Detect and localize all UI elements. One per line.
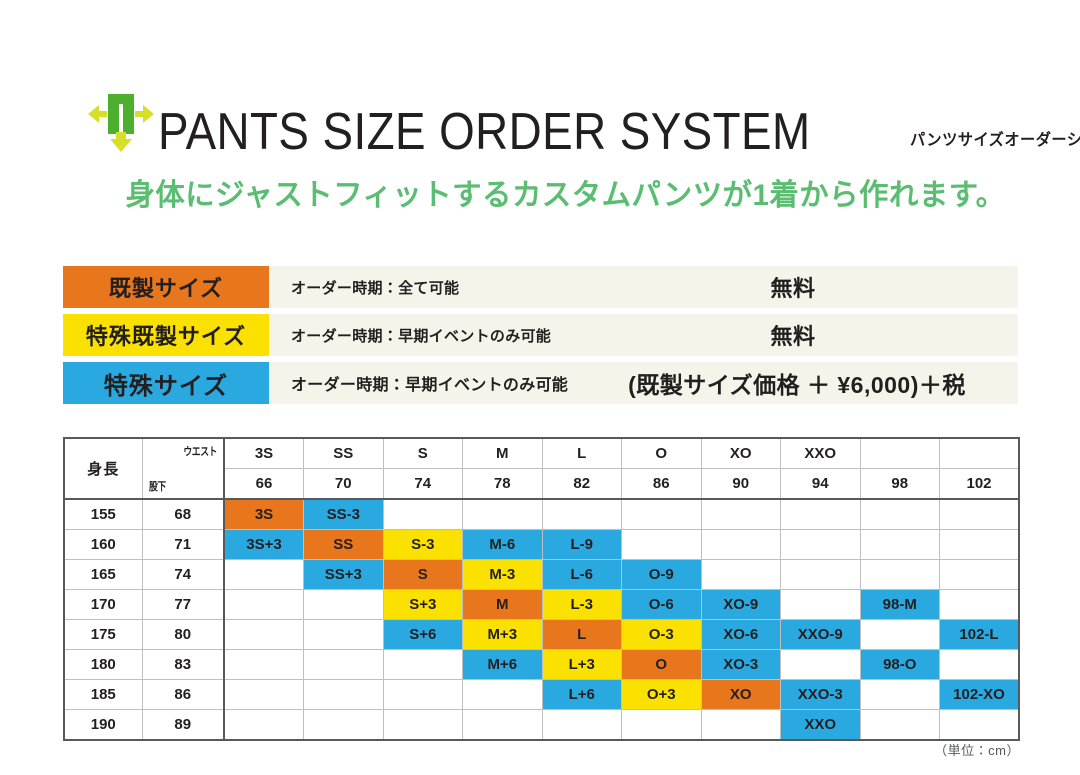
size-cell-98-M: 98-M xyxy=(860,590,940,620)
size-cell-102-L: 102-L xyxy=(940,620,1020,650)
row-height-155: 155 xyxy=(64,499,142,530)
price-value-special-ready-made: 無料 xyxy=(568,319,1018,351)
size-cell-empty xyxy=(542,499,622,530)
table-row: 16574SS+3SM-3L-6O-9 xyxy=(64,560,1019,590)
size-label-6: XO xyxy=(701,438,781,469)
size-cell-empty xyxy=(304,650,384,680)
size-matrix-table: 身長 ウエスト 股下 3S SS S M L O XO XXO 66 70 xyxy=(63,437,1018,741)
size-cell-XXO-9: XXO-9 xyxy=(781,620,861,650)
size-cell-empty xyxy=(383,680,463,710)
size-cell-empty xyxy=(940,590,1020,620)
size-cell-3S+3: 3S+3 xyxy=(224,530,304,560)
page-header: PANTS SIZE ORDER SYSTEM パンツサイズオーダーシステム 身… xyxy=(0,92,1080,214)
row-inseam-77: 77 xyxy=(142,590,224,620)
size-cell-O-9: O-9 xyxy=(622,560,702,590)
size-cell-O+3: O+3 xyxy=(622,680,702,710)
size-cell-empty xyxy=(463,499,543,530)
table-row: 18586L+6O+3XOXXO-3102-XO xyxy=(64,680,1019,710)
waist-value-8: 98 xyxy=(860,469,940,500)
row-inseam-89: 89 xyxy=(142,710,224,741)
size-cell-S+6: S+6 xyxy=(383,620,463,650)
size-table: 身長 ウエスト 股下 3S SS S M L O XO XXO 66 70 xyxy=(63,437,1020,741)
size-cell-empty xyxy=(701,560,781,590)
size-label-1: SS xyxy=(304,438,384,469)
size-cell-empty xyxy=(622,710,702,741)
size-cell-empty xyxy=(860,560,940,590)
size-label-7: XXO xyxy=(781,438,861,469)
pants-resize-icon xyxy=(88,92,154,154)
size-cell-empty xyxy=(304,620,384,650)
waist-value-7: 94 xyxy=(781,469,861,500)
size-cell-empty xyxy=(622,499,702,530)
row-height-180: 180 xyxy=(64,650,142,680)
size-cell-empty xyxy=(304,590,384,620)
size-cell-M-6: M-6 xyxy=(463,530,543,560)
size-cell-L+3: L+3 xyxy=(542,650,622,680)
header-diagonal-cell: ウエスト 股下 xyxy=(142,438,224,499)
size-cell-O-6: O-6 xyxy=(622,590,702,620)
size-cell-empty xyxy=(304,680,384,710)
size-cell-empty xyxy=(463,710,543,741)
size-cell-empty xyxy=(940,710,1020,741)
row-height-190: 190 xyxy=(64,710,142,741)
size-cell-L: L xyxy=(542,620,622,650)
price-period-special: オーダー時期：早期イベントのみ可能 xyxy=(291,371,568,395)
size-cell-XO-9: XO-9 xyxy=(701,590,781,620)
row-height-165: 165 xyxy=(64,560,142,590)
header-waist-label: ウエスト xyxy=(183,443,217,459)
page-title: PANTS SIZE ORDER SYSTEM xyxy=(158,106,811,158)
size-cell-L+6: L+6 xyxy=(542,680,622,710)
row-height-170: 170 xyxy=(64,590,142,620)
table-header-size-labels: 身長 ウエスト 股下 3S SS S M L O XO XXO xyxy=(64,438,1019,469)
row-inseam-86: 86 xyxy=(142,680,224,710)
price-legend: 既製サイズ オーダー時期：全て可能 無料 特殊既製サイズ オーダー時期：早期イベ… xyxy=(63,266,1018,404)
size-cell-empty xyxy=(383,499,463,530)
size-cell-empty xyxy=(304,710,384,741)
size-cell-M+6: M+6 xyxy=(463,650,543,680)
size-cell-empty xyxy=(224,620,304,650)
row-inseam-71: 71 xyxy=(142,530,224,560)
price-tag-ready-made: 既製サイズ xyxy=(63,266,269,308)
price-value-ready-made: 無料 xyxy=(568,271,1018,303)
size-cell-empty xyxy=(781,560,861,590)
size-cell-empty xyxy=(781,650,861,680)
size-label-5: O xyxy=(622,438,702,469)
row-inseam-80: 80 xyxy=(142,620,224,650)
price-row-special: 特殊サイズ オーダー時期：早期イベントのみ可能 (既製サイズ価格 ＋ ¥6,00… xyxy=(63,362,1018,404)
price-value-special: (既製サイズ価格 ＋ ¥6,000)＋税 xyxy=(572,366,1022,400)
size-cell-empty xyxy=(383,710,463,741)
size-cell-XO-6: XO-6 xyxy=(701,620,781,650)
waist-value-9: 102 xyxy=(940,469,1020,500)
price-period-ready-made: オーダー時期：全て可能 xyxy=(291,277,459,298)
waist-value-3: 78 xyxy=(463,469,543,500)
size-cell-L-3: L-3 xyxy=(542,590,622,620)
size-cell-empty xyxy=(701,710,781,741)
size-cell-empty xyxy=(940,560,1020,590)
size-cell-empty xyxy=(860,499,940,530)
size-cell-empty xyxy=(940,499,1020,530)
size-cell-empty xyxy=(701,499,781,530)
size-cell-empty xyxy=(383,650,463,680)
size-cell-empty xyxy=(224,710,304,741)
price-row-special-ready-made: 特殊既製サイズ オーダー時期：早期イベントのみ可能 無料 xyxy=(63,314,1018,356)
size-cell-empty xyxy=(781,590,861,620)
table-row: 18083M+6L+3OXO-398-O xyxy=(64,650,1019,680)
table-row: 155683SSS-3 xyxy=(64,499,1019,530)
size-cell-empty xyxy=(542,710,622,741)
row-inseam-68: 68 xyxy=(142,499,224,530)
size-cell-S-3: S-3 xyxy=(383,530,463,560)
size-cell-SS+3: SS+3 xyxy=(304,560,384,590)
size-cell-M-3: M-3 xyxy=(463,560,543,590)
size-cell-O: O xyxy=(622,650,702,680)
size-cell-XO: XO xyxy=(701,680,781,710)
price-row-ready-made: 既製サイズ オーダー時期：全て可能 無料 xyxy=(63,266,1018,308)
size-label-4: L xyxy=(542,438,622,469)
size-cell-empty xyxy=(940,650,1020,680)
size-cell-L-9: L-9 xyxy=(542,530,622,560)
size-label-2: S xyxy=(383,438,463,469)
table-row: 160713S+3SSS-3M-6L-9 xyxy=(64,530,1019,560)
size-cell-SS: SS xyxy=(304,530,384,560)
size-cell-empty xyxy=(860,620,940,650)
size-cell-empty xyxy=(781,530,861,560)
size-cell-M+3: M+3 xyxy=(463,620,543,650)
size-label-0: 3S xyxy=(224,438,304,469)
size-cell-empty xyxy=(860,680,940,710)
size-cell-empty xyxy=(701,530,781,560)
title-row: PANTS SIZE ORDER SYSTEM パンツサイズオーダーシステム xyxy=(0,92,1080,158)
waist-value-2: 74 xyxy=(383,469,463,500)
size-cell-empty xyxy=(860,710,940,741)
tagline: 身体にジャストフィットするカスタムパンツが1着から作れます。 xyxy=(0,170,1058,214)
size-label-9 xyxy=(940,438,1020,469)
header-height: 身長 xyxy=(64,438,142,499)
waist-value-5: 86 xyxy=(622,469,702,500)
row-inseam-74: 74 xyxy=(142,560,224,590)
row-height-175: 175 xyxy=(64,620,142,650)
size-cell-empty xyxy=(463,680,543,710)
size-cell-empty xyxy=(860,530,940,560)
size-cell-empty xyxy=(224,650,304,680)
size-cell-empty xyxy=(781,499,861,530)
size-cell-empty xyxy=(622,530,702,560)
table-row: 19089XXO xyxy=(64,710,1019,741)
table-row: 17580S+6M+3LO-3XO-6XXO-9102-L xyxy=(64,620,1019,650)
size-cell-XXO: XXO xyxy=(781,710,861,741)
size-cell-empty xyxy=(224,590,304,620)
size-cell-98-O: 98-O xyxy=(860,650,940,680)
size-label-8 xyxy=(860,438,940,469)
page-subtitle-jp: パンツサイズオーダーシステム xyxy=(910,126,1080,150)
row-inseam-83: 83 xyxy=(142,650,224,680)
size-cell-empty xyxy=(940,530,1020,560)
size-cell-O-3: O-3 xyxy=(622,620,702,650)
waist-value-6: 90 xyxy=(701,469,781,500)
row-height-160: 160 xyxy=(64,530,142,560)
price-period-special-ready-made: オーダー時期：早期イベントのみ可能 xyxy=(291,325,551,346)
waist-value-4: 82 xyxy=(542,469,622,500)
price-tag-special-ready-made: 特殊既製サイズ xyxy=(63,314,269,356)
size-cell-M: M xyxy=(463,590,543,620)
waist-value-0: 66 xyxy=(224,469,304,500)
size-label-3: M xyxy=(463,438,543,469)
size-cell-XO-3: XO-3 xyxy=(701,650,781,680)
table-row: 17077S+3ML-3O-6XO-998-M xyxy=(64,590,1019,620)
size-cell-XXO-3: XXO-3 xyxy=(781,680,861,710)
size-cell-102-XO: 102-XO xyxy=(940,680,1020,710)
size-cell-L-6: L-6 xyxy=(542,560,622,590)
row-height-185: 185 xyxy=(64,680,142,710)
unit-note: （単位：cm） xyxy=(934,740,1020,759)
size-cell-empty xyxy=(224,560,304,590)
size-cell-S: S xyxy=(383,560,463,590)
size-cell-S+3: S+3 xyxy=(383,590,463,620)
size-cell-3S: 3S xyxy=(224,499,304,530)
size-cell-SS-3: SS-3 xyxy=(304,499,384,530)
waist-value-1: 70 xyxy=(304,469,384,500)
header-inseam-label: 股下 xyxy=(149,478,166,494)
size-cell-empty xyxy=(224,680,304,710)
price-tag-special: 特殊サイズ xyxy=(63,362,269,404)
